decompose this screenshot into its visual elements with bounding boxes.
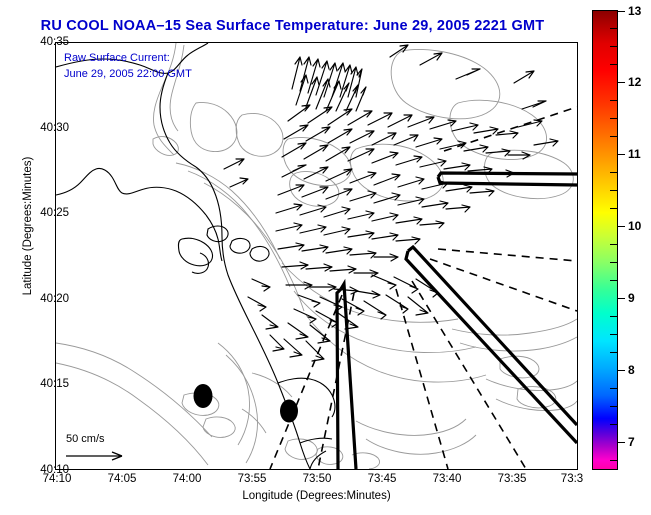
annotation-line-1: Raw Surface Current: (64, 50, 192, 66)
station-markers (194, 384, 299, 423)
ytick-label: 40:35 (40, 36, 69, 48)
xtick-label: 73:40 (433, 473, 462, 485)
y-axis-label: Latitude (Degrees:Minutes) (22, 136, 34, 316)
figure-canvas: RU COOL NOAA–15 Sea Surface Temperature:… (0, 0, 651, 515)
annotation-block: Raw Surface Current: June 29, 2005 22:00… (64, 50, 192, 82)
colorbar[interactable]: 13 12 11 10 9 8 7 (592, 10, 618, 470)
radar-beam-wedges (337, 173, 577, 469)
right-arrow-icon (60, 447, 140, 463)
surface-current-vectors (224, 45, 558, 361)
colorbar-tick-label: 11 (628, 147, 641, 161)
ytick-label: 40:20 (40, 293, 69, 305)
xtick-label: 74:00 (173, 473, 202, 485)
map-graphics (56, 43, 577, 469)
colorbar-tick-label: 8 (628, 363, 635, 377)
scale-bar: 50 cm/s (60, 433, 180, 463)
station-marker (194, 384, 213, 408)
xtick-label: 73:45 (368, 473, 397, 485)
colorbar-gradient (592, 10, 618, 470)
x-axis-label: Longitude (Degrees:Minutes) (55, 490, 578, 502)
annotation-line-2: June 29, 2005 22:00 GMT (64, 66, 192, 82)
xtick-label: 73:3 (561, 473, 583, 485)
colorbar-tick-label: 9 (628, 291, 635, 305)
station-marker (280, 400, 298, 423)
colorbar-tick-label: 13 (628, 4, 641, 18)
xtick-label: 74:10 (43, 473, 72, 485)
figure-title: RU COOL NOAA–15 Sea Surface Temperature:… (0, 18, 585, 34)
ytick-label: 40:15 (40, 378, 69, 390)
scale-bar-label: 50 cm/s (66, 433, 180, 445)
map-plot-area[interactable]: Raw Surface Current: June 29, 2005 22:00… (55, 42, 578, 470)
xtick-label: 73:50 (303, 473, 332, 485)
colorbar-tick-label: 10 (628, 219, 641, 233)
colorbar-tick-label: 7 (628, 435, 635, 449)
colorbar-tick-label: 12 (628, 75, 641, 89)
ytick-label: 40:25 (40, 207, 69, 219)
xtick-label: 74:05 (108, 473, 137, 485)
ytick-label: 40:30 (40, 122, 69, 134)
xtick-label: 73:35 (498, 473, 527, 485)
radar-beam-limits (270, 107, 577, 469)
xtick-label: 73:55 (238, 473, 267, 485)
